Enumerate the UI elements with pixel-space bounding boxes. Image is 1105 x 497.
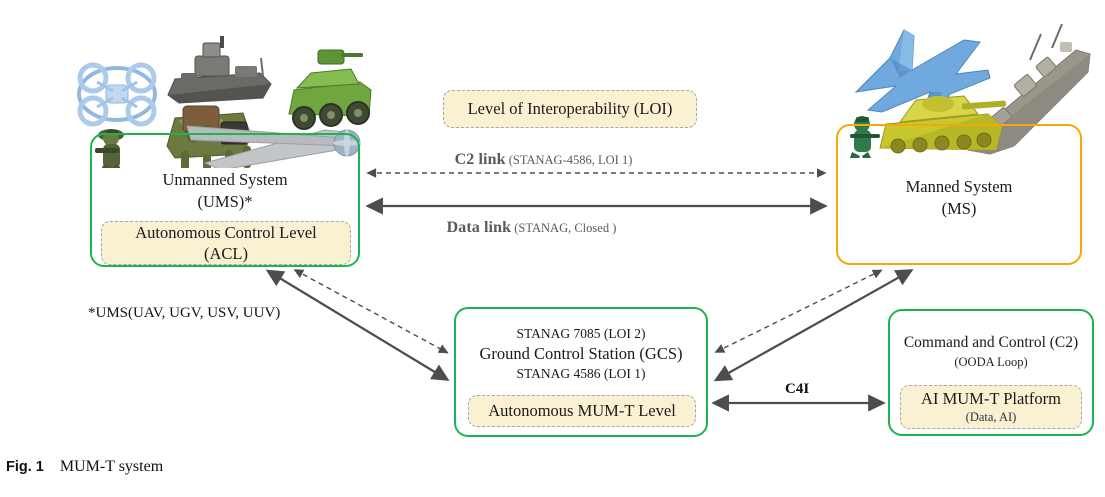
c2-link-bold: C2 link <box>455 151 506 168</box>
figure-caption-text: MUM-T system <box>60 458 163 475</box>
command-and-control-box[interactable]: Command and Control (C2) (OODA Loop) AI … <box>888 309 1094 436</box>
ai-mumt-platform-sub: (Data, AI) <box>966 409 1017 425</box>
loi-label: Level of Interoperability (LOI) <box>468 99 673 119</box>
ai-mumt-platform-label: AI MUM-T Platform <box>921 388 1061 409</box>
figure-number: Fig. 1 <box>6 459 44 475</box>
figure-caption: Fig. 1 MUM-T system <box>6 458 163 476</box>
gcs-title: Ground Control Station (GCS) <box>456 343 706 365</box>
gcs-stanag-4586: STANAG 4586 (LOI 1) <box>456 365 706 383</box>
data-link-bold: Data link <box>447 219 511 236</box>
ums-gcs-dashed-arrow <box>295 270 448 353</box>
ms-title-line2: (MS) <box>838 198 1080 220</box>
ums-title-line2: (UMS)* <box>92 191 358 213</box>
gcs-ms-solid-arrow <box>716 270 912 380</box>
unmanned-ground-vehicle-icon <box>289 50 371 129</box>
autonomous-mumt-level-box[interactable]: Autonomous MUM-T Level <box>468 395 696 427</box>
figure-canvas: Unmanned System (UMS)* Autonomous Contro… <box>0 0 1105 497</box>
ground-control-station-box[interactable]: STANAG 7085 (LOI 2) Ground Control Stati… <box>454 307 708 437</box>
c2-title: Command and Control (C2) <box>890 333 1092 354</box>
ums-footnote: *UMS(UAV, UGV, USV, UUV) <box>88 305 280 322</box>
ai-mumt-platform-box[interactable]: AI MUM-T Platform (Data, AI) <box>900 385 1082 429</box>
c2-subtitle: (OODA Loop) <box>890 354 1092 370</box>
data-link-detail: (STANAG, Closed ) <box>514 221 616 235</box>
quadcopter-drone-icon <box>79 65 155 124</box>
level-of-interoperability-box[interactable]: Level of Interoperability (LOI) <box>443 90 697 128</box>
c2-link-detail: (STANAG-4586, LOI 1) <box>509 153 633 167</box>
ms-title-line1: Manned System <box>838 176 1080 198</box>
ums-gcs-solid-arrow <box>268 271 448 380</box>
ums-title-line1: Unmanned System <box>92 169 358 191</box>
unmanned-surface-vessel-icon <box>168 36 271 103</box>
data-link-label: Data link (STANAG, Closed ) <box>0 219 1105 237</box>
gcs-ms-dashed-arrow <box>716 270 882 352</box>
acl-line2: (ACL) <box>204 243 248 264</box>
gcs-stanag-7085: STANAG 7085 (LOI 2) <box>456 325 706 343</box>
c4i-label: C4I <box>785 381 809 398</box>
autonomous-mumt-level-label: Autonomous MUM-T Level <box>488 400 676 421</box>
manned-system-box[interactable]: Manned System (MS) <box>836 124 1082 265</box>
c2-link-label: C2 link (STANAG-4586, LOI 1) <box>0 151 1105 169</box>
